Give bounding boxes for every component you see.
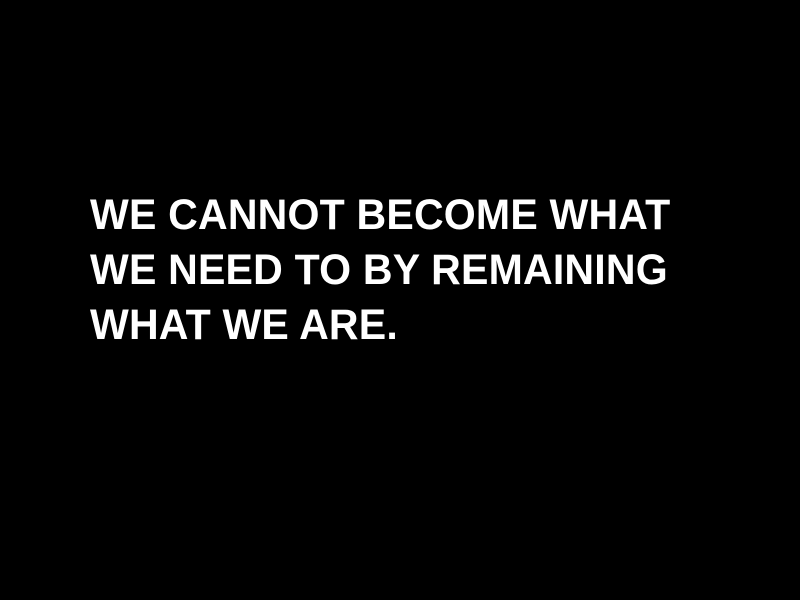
quote-line-1: WE CANNOT BECOME WHAT	[90, 188, 701, 243]
quote-text-block: WE CANNOT BECOME WHAT WE NEED TO BY REMA…	[90, 188, 730, 353]
quote-line-3: WHAT WE ARE.	[90, 298, 701, 353]
slide-canvas: WE CANNOT BECOME WHAT WE NEED TO BY REMA…	[0, 0, 800, 600]
quote-line-2: WE NEED TO BY REMAINING	[90, 243, 701, 298]
